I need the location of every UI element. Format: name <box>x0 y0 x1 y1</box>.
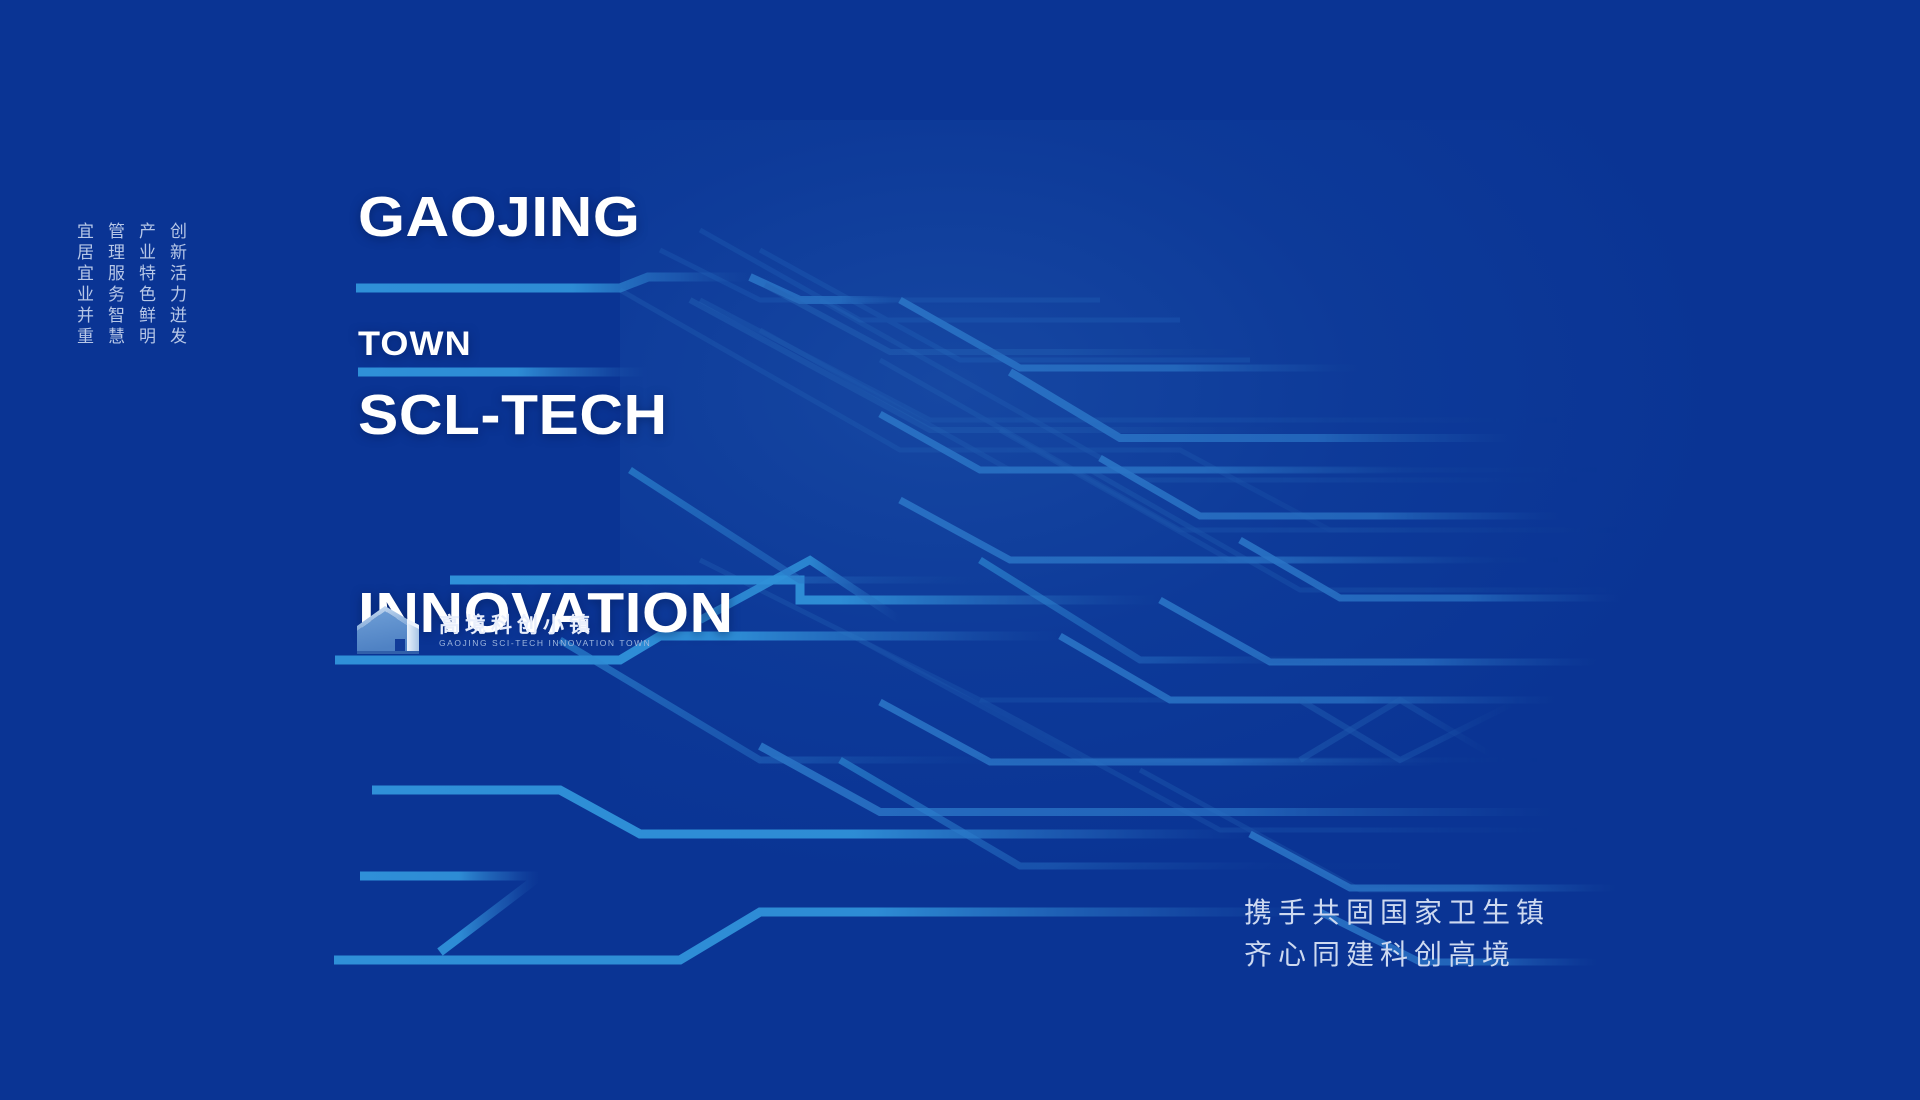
headline-line-1: GAOJING <box>358 184 734 250</box>
vertical-slogan-column-3: 管理服务智慧 <box>105 222 122 348</box>
house-building-logo-icon <box>355 605 425 657</box>
brand-logo-text: 高境科创小镇 GAOJING SCI-TECH INNOVATION TOWN <box>439 615 651 648</box>
vertical-slogan-column-1: 创新活力迸发 <box>167 222 184 348</box>
vertical-slogan-column-4: 宜居宜业并重 <box>74 222 91 348</box>
brand-logo: 高境科创小镇 GAOJING SCI-TECH INNOVATION TOWN <box>355 605 651 657</box>
bottom-slogan-line-1: 携手共固国家卫生镇 <box>1244 892 1550 934</box>
brand-name-cn: 高境科创小镇 <box>439 615 651 636</box>
headline-line-2: SCL-TECH <box>358 382 734 448</box>
headline-line-4: TOWN <box>358 325 472 364</box>
page-title: GAOJING SCL-TECH INNOVATION <box>358 52 734 778</box>
circuit-line-background <box>0 0 1920 1100</box>
bottom-slogan-line-2: 齐心同建科创高境 <box>1244 934 1550 976</box>
bottom-slogan: 携手共固国家卫生镇 齐心同建科创高境 <box>1244 892 1550 976</box>
poster-canvas: 创新活力迸发 产业特色鲜明 管理服务智慧 宜居宜业并重 GAOJING SCL-… <box>0 0 1920 1100</box>
vertical-slogan-column-2: 产业特色鲜明 <box>136 222 153 348</box>
vertical-slogan: 创新活力迸发 产业特色鲜明 管理服务智慧 宜居宜业并重 <box>74 222 184 348</box>
brand-name-en: GAOJING SCI-TECH INNOVATION TOWN <box>439 639 651 648</box>
